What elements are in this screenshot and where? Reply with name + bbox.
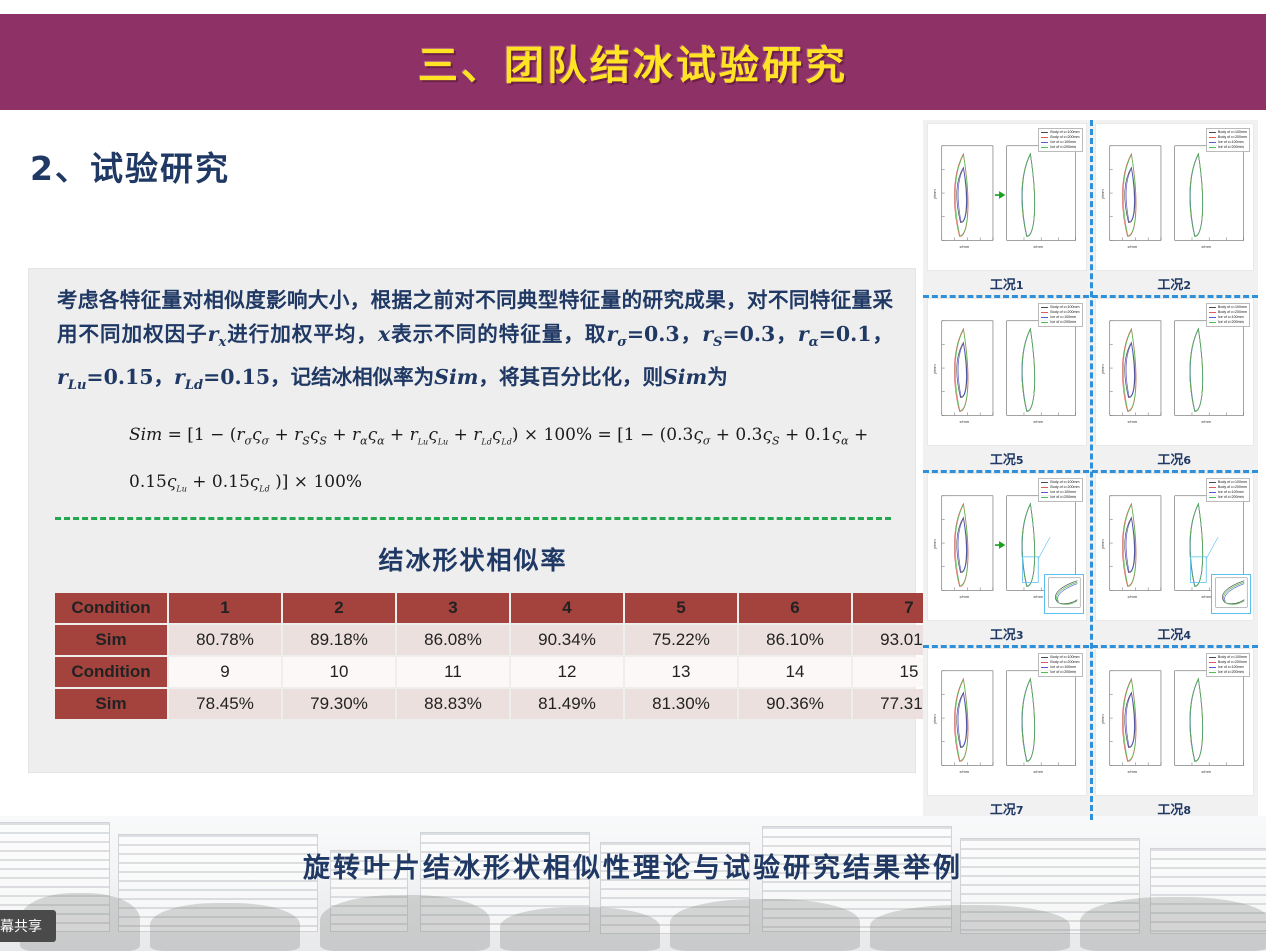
row-header-condition-1: Condition [55, 593, 167, 623]
formula-t2-z: ς [310, 425, 320, 445]
svg-text:x/mm: x/mm [960, 769, 970, 774]
svg-text:x/mm: x/mm [960, 244, 970, 249]
formula-t4-r-sub: Lu [418, 437, 428, 446]
cell-sim2-2: 79.30% [283, 689, 395, 719]
legend-swatch [1041, 667, 1048, 668]
svg-text:x/mm: x/mm [1127, 769, 1137, 774]
cell-sim1-5: 75.22% [625, 625, 737, 655]
legend-entry: Ice of c=200mm [1209, 495, 1247, 500]
chart-plot-area: x/mmx/mmy/mmBody of c=100mmBody of c=200… [1095, 298, 1255, 446]
formula-t1-z: ς [252, 425, 262, 445]
inset-zoom-panel [1211, 574, 1251, 614]
legend-swatch [1209, 672, 1216, 673]
ice-shape-charts-panel: x/mmx/mmy/mmBody of c=100mmBody of c=200… [923, 120, 1258, 820]
symbol-r-alpha-subscript: α [809, 335, 819, 350]
chart-legend: Body of c=100mmBody of c=200mmIce of c=1… [1038, 653, 1082, 677]
legend-swatch [1041, 482, 1048, 483]
formula-c5: ς [250, 472, 260, 492]
symbol-r-sigma: r [606, 322, 617, 346]
chart-caption-number: 1 [1016, 279, 1024, 292]
formula-eq: = [1 − ( [162, 425, 236, 445]
svg-text:x/mm: x/mm [1201, 244, 1211, 249]
formula-line2c: )] × 100% [270, 472, 362, 492]
footer-caption: 旋转叶片结冰形状相似性理论与试验研究结果举例 [0, 846, 1266, 885]
chart-cell: x/mmx/mmy/mmBody of c=100mmBody of c=200… [1091, 295, 1259, 470]
inset-zoom-panel [1044, 574, 1084, 614]
slide-root: 三、团队结冰试验研究 2、试验研究 考虑各特征量对相似度影响大小，根据之前对不同… [0, 0, 1266, 951]
formula-p2: + 0.1 [780, 425, 832, 445]
svg-text:x/mm: x/mm [960, 594, 970, 599]
symbol-x: x [378, 322, 390, 346]
screen-share-badge: 电的屏幕共享 [0, 910, 56, 942]
legend-swatch [1209, 307, 1216, 308]
chart-plot-area: x/mmx/mmy/mmBody of c=100mmBody of c=200… [1095, 473, 1255, 621]
chart-cell: x/mmx/mmy/mmBody of c=100mmBody of c=200… [1091, 645, 1259, 820]
row-header-sim-1: Sim [55, 625, 167, 655]
chart-plot-area: x/mmx/mmy/mmBody of c=100mmBody of c=200… [927, 298, 1087, 446]
content-card: 考虑各特征量对相似度影响大小，根据之前对不同典型特征量的研究成果，对不同特征量采… [28, 268, 916, 773]
legend-entry: Ice of c=200mm [1209, 320, 1247, 325]
cell-sim1-6: 86.10% [739, 625, 851, 655]
cell-sim1-4: 90.34% [511, 625, 623, 655]
svg-text:x/mm: x/mm [1201, 594, 1211, 599]
svg-text:x/mm: x/mm [1033, 769, 1043, 774]
paragraph-line-2-b: 进行加权平均， [226, 322, 378, 346]
chart-cell: x/mmx/mmy/mmBody of c=100mmBody of c=200… [923, 645, 1091, 820]
section-heading: 2、试验研究 [30, 142, 230, 190]
legend-entry: Ice of c=200mm [1209, 145, 1247, 150]
symbol-r-s: r [702, 322, 713, 346]
legend-label: Ice of c=200mm [1050, 670, 1076, 675]
symbol-r-lu: r [57, 365, 68, 389]
chart-caption: 工况5 [923, 449, 1091, 468]
chart-caption-number: 6 [1183, 454, 1191, 467]
chart-caption: 工况6 [1091, 449, 1259, 468]
chart-plot-area: x/mmx/mmy/mmBody of c=100mmBody of c=200… [927, 123, 1087, 271]
formula-t3-z-sub: α [377, 434, 384, 447]
formula-c2-sub: S [772, 434, 780, 447]
cell-sim1-3: 86.08% [397, 625, 509, 655]
legend-swatch [1209, 317, 1216, 318]
chart-caption-text: 工况 [990, 278, 1016, 293]
formula-t2-r-sub: S [302, 434, 310, 447]
formula-t4-r: r [410, 425, 418, 445]
formula-c1: ς [693, 425, 703, 445]
cell-cond2-3: 11 [397, 657, 509, 687]
formula-t3-r-sub: α [360, 434, 367, 447]
row-header-sim-2: Sim [55, 689, 167, 719]
value-r-ld: =0.15，记结冰相似率为 [203, 365, 434, 389]
formula-c2: ς [762, 425, 772, 445]
formula-line2b: + 0.15 [187, 472, 250, 492]
chart-caption: 工况1 [923, 274, 1091, 293]
legend-swatch [1041, 492, 1048, 493]
legend-swatch [1209, 662, 1216, 663]
svg-text:y/mm: y/mm [932, 189, 937, 199]
cell-cond1-3: 3 [397, 593, 509, 623]
legend-swatch [1209, 497, 1216, 498]
chart-plot-area: x/mmx/mmy/mmBody of c=100mmBody of c=200… [1095, 123, 1255, 271]
chart-caption-text: 工况 [990, 453, 1016, 468]
value-r-alpha: =0.1， [819, 322, 893, 346]
chart-legend: Body of c=100mmBody of c=200mmIce of c=1… [1206, 478, 1250, 502]
formula-t3-z: ς [368, 425, 378, 445]
legend-label: Ice of c=200mm [1218, 145, 1244, 150]
similarity-formula: Sim = [1 − (rσςσ + rSςS + rαςα + rLuςLu … [129, 415, 899, 510]
chart-plot-area: x/mmx/mmy/mmBody of c=100mmBody of c=200… [927, 648, 1087, 796]
value-r-lu: =0.15， [86, 365, 174, 389]
svg-text:x/mm: x/mm [1201, 769, 1211, 774]
cell-cond1-6: 6 [739, 593, 851, 623]
legend-swatch [1041, 657, 1048, 658]
flow-arrow-icon [995, 193, 1004, 198]
tree-shape [320, 895, 490, 951]
symbol-sim-2: Sim [663, 365, 707, 390]
chart-caption-text: 工况 [1157, 628, 1183, 643]
chart-legend: Body of c=100mmBody of c=200mmIce of c=1… [1206, 653, 1250, 677]
legend-label: Ice of c=200mm [1050, 495, 1076, 500]
row-header-condition-2: Condition [55, 657, 167, 687]
symbol-r-sigma-subscript: σ [617, 335, 627, 351]
formula-c3-sub: α [841, 434, 848, 447]
legend-swatch [1041, 307, 1048, 308]
symbol-r-ld-subscript: Ld [185, 378, 203, 394]
chart-plot-area: x/mmx/mmy/mmBody of c=100mmBody of c=200… [927, 473, 1087, 621]
formula-t4-z: ς [428, 425, 438, 445]
formula-c3: ς [832, 425, 842, 445]
legend-swatch [1041, 322, 1048, 323]
chart-caption: 工况4 [1091, 624, 1259, 643]
cell-sim2-1: 78.45% [169, 689, 281, 719]
symbol-sim-1: Sim [434, 365, 478, 390]
cell-cond2-5: 13 [625, 657, 737, 687]
cell-sim2-5: 81.30% [625, 689, 737, 719]
formula-c5-sub: Ld [259, 485, 269, 494]
formula-t1-r: r [236, 425, 244, 445]
svg-text:y/mm: y/mm [932, 539, 937, 549]
legend-label: Ice of c=200mm [1218, 670, 1244, 675]
page-title: 三、团队结冰试验研究 [418, 33, 848, 91]
chart-caption-text: 工况 [990, 628, 1016, 643]
legend-entry: Ice of c=200mm [1041, 145, 1079, 150]
svg-text:y/mm: y/mm [1099, 714, 1104, 724]
formula-c4-sub: Lu [176, 485, 186, 494]
symbol-r-ld: r [174, 365, 185, 389]
chart-divider-horizontal-1 [923, 295, 1258, 298]
legend-swatch [1209, 322, 1216, 323]
legend-swatch [1041, 317, 1048, 318]
svg-text:x/mm: x/mm [1201, 419, 1211, 424]
legend-swatch [1209, 132, 1216, 133]
chart-legend: Body of c=100mmBody of c=200mmIce of c=1… [1206, 128, 1250, 152]
cell-cond1-2: 2 [283, 593, 395, 623]
legend-swatch [1041, 487, 1048, 488]
cell-sim1-2: 89.18% [283, 625, 395, 655]
symbol-r-lu-subscript: Lu [68, 378, 87, 394]
legend-swatch [1041, 142, 1048, 143]
tree-shape [150, 903, 300, 951]
legend-swatch [1209, 667, 1216, 668]
legend-entry: Ice of c=200mm [1209, 670, 1247, 675]
symbol-r-alpha: r [798, 322, 809, 346]
chart-cell: x/mmx/mmy/mmBody of c=100mmBody of c=200… [1091, 470, 1259, 645]
formula-t2-z-sub: S [319, 434, 327, 447]
cell-sim1-1: 80.78% [169, 625, 281, 655]
tree-shape [500, 907, 660, 951]
chart-caption-number: 5 [1016, 454, 1024, 467]
cell-cond1-1: 1 [169, 593, 281, 623]
svg-text:y/mm: y/mm [1099, 364, 1104, 374]
tree-shape [1080, 897, 1266, 951]
legend-swatch [1209, 657, 1216, 658]
legend-swatch [1209, 487, 1216, 488]
chart-legend: Body of c=100mmBody of c=200mmIce of c=1… [1206, 303, 1250, 327]
legend-label: Ice of c=200mm [1218, 320, 1244, 325]
chart-legend: Body of c=100mmBody of c=200mmIce of c=1… [1038, 128, 1082, 152]
cell-cond2-2: 10 [283, 657, 395, 687]
cell-sim2-4: 81.49% [511, 689, 623, 719]
tree-shape [870, 905, 1070, 951]
legend-swatch [1041, 147, 1048, 148]
legend-swatch [1041, 132, 1048, 133]
paragraph-line-1: 考虑各特征量对相似度影响大小，根据之前对不同典型特征量的研究成果，对不同 [57, 288, 810, 312]
legend-swatch [1041, 312, 1048, 313]
cell-cond2-1: 9 [169, 657, 281, 687]
legend-swatch [1209, 147, 1216, 148]
formula-t3-r: r [352, 425, 360, 445]
legend-label: Ice of c=200mm [1050, 320, 1076, 325]
legend-swatch [1209, 137, 1216, 138]
value-r-s: =0.3， [722, 322, 797, 346]
formula-c4: ς [167, 472, 177, 492]
chart-cell: x/mmx/mmy/mmBody of c=100mmBody of c=200… [923, 470, 1091, 645]
paragraph-line-2-c: 表示不同的特征量，取 [390, 322, 606, 346]
legend-swatch [1209, 482, 1216, 483]
slide-title-band: 三、团队结冰试验研究 [0, 14, 1266, 110]
green-dashed-divider [55, 517, 891, 520]
legend-label: Ice of c=200mm [1050, 145, 1076, 150]
svg-text:x/mm: x/mm [1127, 594, 1137, 599]
cell-cond2-4: 12 [511, 657, 623, 687]
svg-text:y/mm: y/mm [932, 364, 937, 374]
legend-swatch [1209, 142, 1216, 143]
cell-cond1-5: 5 [625, 593, 737, 623]
paragraph-line-3-end: 为 [707, 365, 728, 389]
svg-text:y/mm: y/mm [1099, 189, 1104, 199]
svg-text:x/mm: x/mm [1033, 419, 1043, 424]
chart-caption-text: 工况 [1157, 453, 1183, 468]
legend-swatch [1209, 312, 1216, 313]
value-r-sigma: =0.3， [627, 322, 702, 346]
chart-legend: Body of c=100mmBody of c=200mmIce of c=1… [1038, 478, 1082, 502]
explanatory-paragraph: 考虑各特征量对相似度影响大小，根据之前对不同典型特征量的研究成果，对不同特征量采… [57, 283, 893, 403]
cell-cond1-4: 4 [511, 593, 623, 623]
table-title: 结冰形状相似率 [29, 541, 917, 577]
chart-cell: x/mmx/mmy/mmBody of c=100mmBody of c=200… [923, 295, 1091, 470]
svg-text:y/mm: y/mm [1099, 539, 1104, 549]
formula-mid: ) × 100% = [1 − (0.3 [512, 425, 694, 445]
chart-divider-horizontal-3 [923, 645, 1258, 648]
chart-caption-number: 3 [1016, 629, 1024, 642]
legend-entry: Ice of c=200mm [1041, 495, 1079, 500]
chart-cell: x/mmx/mmy/mmBody of c=100mmBody of c=200… [1091, 120, 1259, 295]
legend-swatch [1041, 662, 1048, 663]
formula-t5-z-sub: Ld [501, 437, 511, 446]
svg-text:x/mm: x/mm [1127, 244, 1137, 249]
svg-text:x/mm: x/mm [1033, 244, 1043, 249]
cell-sim2-3: 88.83% [397, 689, 509, 719]
formula-t5-r-sub: Ld [481, 437, 491, 446]
symbol-r-x: r [208, 322, 219, 346]
chart-legend: Body of c=100mmBody of c=200mmIce of c=1… [1038, 303, 1082, 327]
formula-line2a: 0.15 [129, 472, 167, 492]
chart-caption: 工况2 [1091, 274, 1259, 293]
chart-caption: 工况3 [923, 624, 1091, 643]
formula-t4-z-sub: Lu [438, 437, 448, 446]
legend-entry: Ice of c=200mm [1041, 320, 1079, 325]
cell-sim2-6: 90.36% [739, 689, 851, 719]
cell-cond2-6: 14 [739, 657, 851, 687]
chart-cell: x/mmx/mmy/mmBody of c=100mmBody of c=200… [923, 120, 1091, 295]
svg-text:y/mm: y/mm [932, 714, 937, 724]
svg-text:x/mm: x/mm [1033, 594, 1043, 599]
legend-swatch [1209, 492, 1216, 493]
chart-caption-number: 4 [1183, 629, 1191, 642]
tree-shape [670, 899, 860, 951]
legend-swatch [1041, 137, 1048, 138]
legend-entry: Ice of c=200mm [1041, 670, 1079, 675]
legend-swatch [1041, 497, 1048, 498]
chart-divider-horizontal-2 [923, 470, 1258, 473]
formula-t1-z-sub: σ [262, 434, 270, 447]
chart-caption-text: 工况 [1157, 278, 1183, 293]
formula-t1-r-sub: σ [245, 434, 253, 447]
svg-text:x/mm: x/mm [960, 419, 970, 424]
chart-plot-area: x/mmx/mmy/mmBody of c=100mmBody of c=200… [1095, 648, 1255, 796]
formula-p1: + 0.3 [710, 425, 762, 445]
formula-t5-z: ς [492, 425, 502, 445]
legend-swatch [1041, 672, 1048, 673]
svg-text:x/mm: x/mm [1127, 419, 1137, 424]
paragraph-line-3-tail: ，将其百分比化，则 [478, 365, 663, 389]
formula-lhs: Sim [129, 425, 162, 445]
chart-caption-number: 2 [1183, 279, 1191, 292]
legend-label: Ice of c=200mm [1218, 495, 1244, 500]
flow-arrow-icon [995, 543, 1004, 548]
